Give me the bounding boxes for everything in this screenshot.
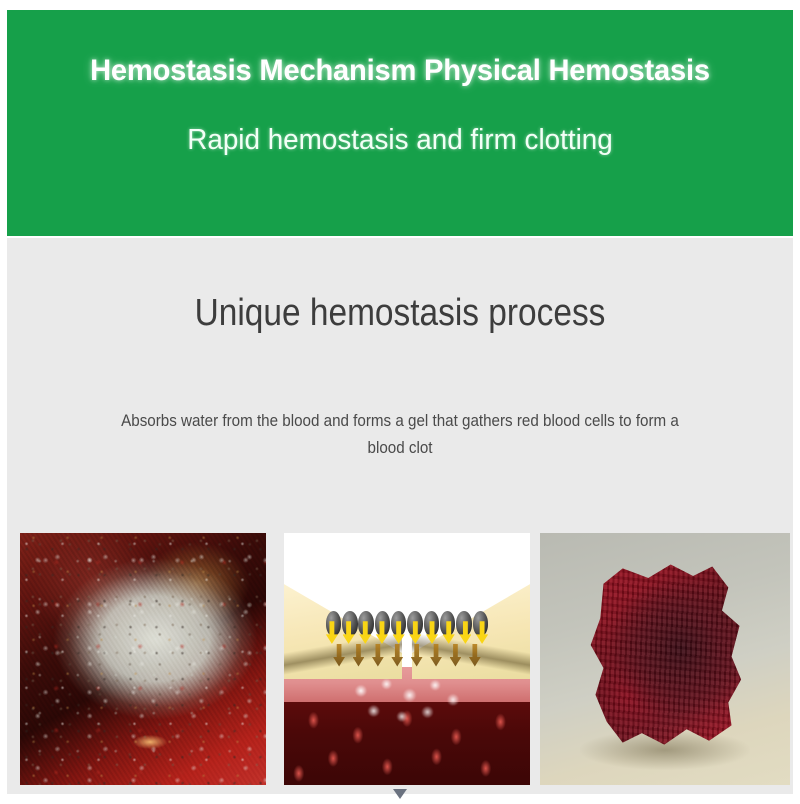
absorption-arrow-icon <box>393 621 405 644</box>
clot-texture <box>588 561 748 753</box>
absorption-arrow-icon <box>469 644 481 667</box>
absorption-arrow-icon <box>430 644 442 667</box>
absorption-arrow-icon <box>450 644 462 667</box>
absorption-arrow-icon <box>372 644 384 667</box>
section-description: Absorbs water from the blood and forms a… <box>110 408 690 461</box>
image-gallery <box>13 533 793 785</box>
blood-highlight <box>133 735 167 749</box>
absorption-arrow-row-primary <box>326 621 488 644</box>
absorption-arrow-icon <box>353 644 365 667</box>
gallery-image-powder-on-wound[interactable] <box>20 533 266 785</box>
gallery-image-wound-cross-section[interactable] <box>284 533 530 785</box>
absorption-arrow-icon <box>343 621 355 644</box>
page-title: Hemostasis Mechanism Physical Hemostasis <box>19 54 781 87</box>
absorption-arrow-icon <box>359 621 371 644</box>
photo-surface <box>20 533 266 785</box>
gallery-image-blood-clot[interactable] <box>540 533 790 785</box>
absorption-arrow-icon <box>376 621 388 644</box>
absorption-arrow-row-secondary <box>333 644 481 667</box>
absorption-arrow-icon <box>476 621 488 644</box>
absorption-arrow-icon <box>459 621 471 644</box>
scroll-down-button[interactable] <box>393 786 407 796</box>
hero-banner: Hemostasis Mechanism Physical Hemostasis… <box>7 10 793 236</box>
content-panel: Unique hemostasis process Absorbs water … <box>7 238 793 794</box>
section-heading: Unique hemostasis process <box>54 292 746 335</box>
absorption-arrow-icon <box>391 644 403 667</box>
absorption-arrow-icon <box>333 644 345 667</box>
gel-formation <box>343 674 471 729</box>
page-subtitle: Rapid hemostasis and firm clotting <box>23 125 778 157</box>
absorption-arrow-icon <box>443 621 455 644</box>
absorption-arrow-icon <box>411 644 423 667</box>
absorption-arrow-icon <box>426 621 438 644</box>
absorption-arrow-icon <box>326 621 338 644</box>
diagram-surface <box>284 533 530 785</box>
absorption-arrow-icon <box>409 621 421 644</box>
blood-clot-specimen <box>588 561 748 753</box>
chevron-down-icon <box>393 789 407 799</box>
product-detail-page: Hemostasis Mechanism Physical Hemostasis… <box>0 0 800 800</box>
photo-surface <box>540 533 790 785</box>
